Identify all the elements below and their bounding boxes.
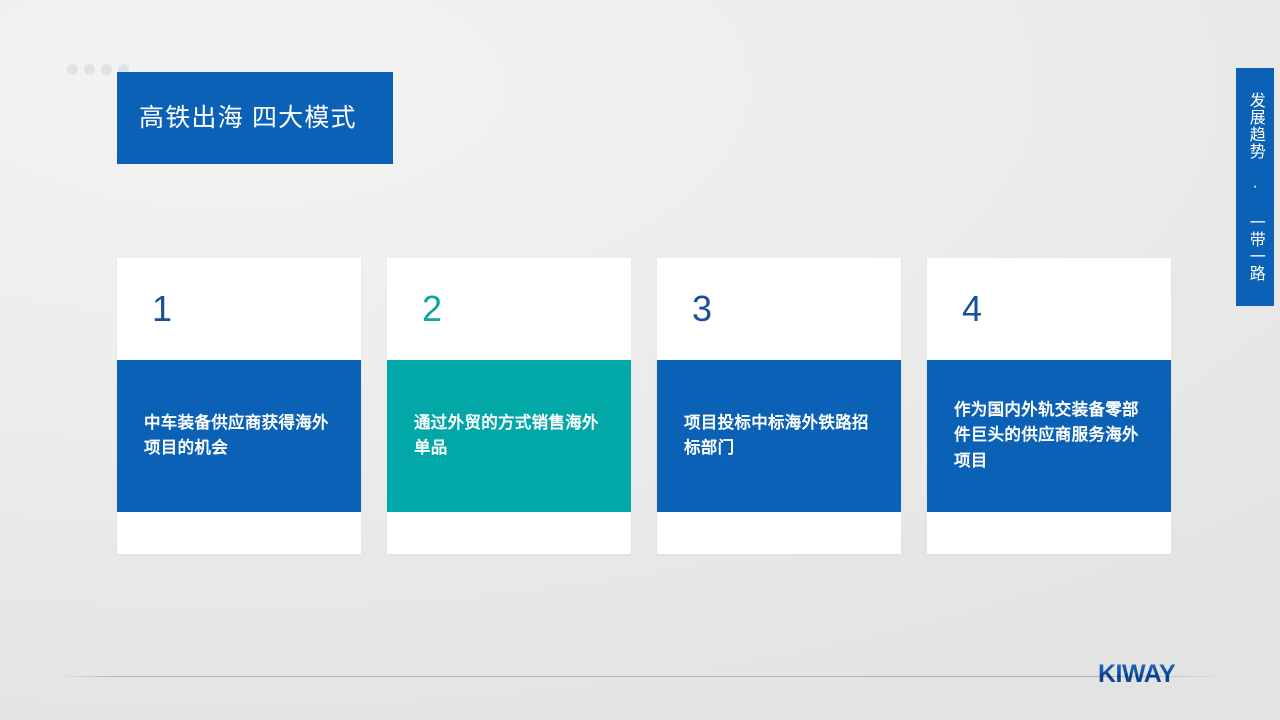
mode-card-4[interactable]: 4 作为国内外轨交装备零部件巨头的供应商服务海外项目 xyxy=(927,258,1171,554)
decorative-dot-1 xyxy=(67,64,78,75)
mode-card-1-number: 1 xyxy=(117,258,361,360)
section-side-tab-label: 发展趋势 · 一带一路 xyxy=(1244,92,1265,282)
mode-card-list: 1 中车装备供应商获得海外项目的机会 2 通过外贸的方式销售海外单品 3 项目投… xyxy=(117,258,1172,554)
mode-card-1-footer xyxy=(117,512,361,554)
section-side-tab[interactable]: 发展趋势 · 一带一路 xyxy=(1236,68,1274,306)
mode-card-2-number: 2 xyxy=(387,258,631,360)
mode-card-4-text: 作为国内外轨交装备零部件巨头的供应商服务海外项目 xyxy=(954,398,1144,473)
mode-card-3-text: 项目投标中标海外铁路招标部门 xyxy=(684,411,874,461)
slide-title-box: 高铁出海 四大模式 xyxy=(117,72,393,164)
mode-card-2-text: 通过外贸的方式销售海外单品 xyxy=(414,411,604,461)
mode-card-3-number: 3 xyxy=(657,258,901,360)
decorative-dot-2 xyxy=(84,64,95,75)
brand-logo-text: KIWAY xyxy=(1098,660,1175,689)
brand-logo: KIWAY xyxy=(1098,660,1175,688)
footer-divider xyxy=(67,676,1215,677)
mode-card-3-footer xyxy=(657,512,901,554)
slide-title-text: 高铁出海 四大模式 xyxy=(139,103,357,133)
mode-card-1-band: 中车装备供应商获得海外项目的机会 xyxy=(117,360,361,512)
decorative-dot-3 xyxy=(101,64,112,75)
mode-card-2-footer xyxy=(387,512,631,554)
mode-card-4-number: 4 xyxy=(927,258,1171,360)
slide-canvas: 高铁出海 四大模式 1 中车装备供应商获得海外项目的机会 2 通过外贸的方式销售… xyxy=(0,0,1280,720)
mode-card-1-text: 中车装备供应商获得海外项目的机会 xyxy=(144,411,334,461)
mode-card-2[interactable]: 2 通过外贸的方式销售海外单品 xyxy=(387,258,631,554)
mode-card-2-band: 通过外贸的方式销售海外单品 xyxy=(387,360,631,512)
mode-card-3[interactable]: 3 项目投标中标海外铁路招标部门 xyxy=(657,258,901,554)
mode-card-1[interactable]: 1 中车装备供应商获得海外项目的机会 xyxy=(117,258,361,554)
mode-card-3-band: 项目投标中标海外铁路招标部门 xyxy=(657,360,901,512)
mode-card-4-band: 作为国内外轨交装备零部件巨头的供应商服务海外项目 xyxy=(927,360,1171,512)
mode-card-4-footer xyxy=(927,512,1171,554)
